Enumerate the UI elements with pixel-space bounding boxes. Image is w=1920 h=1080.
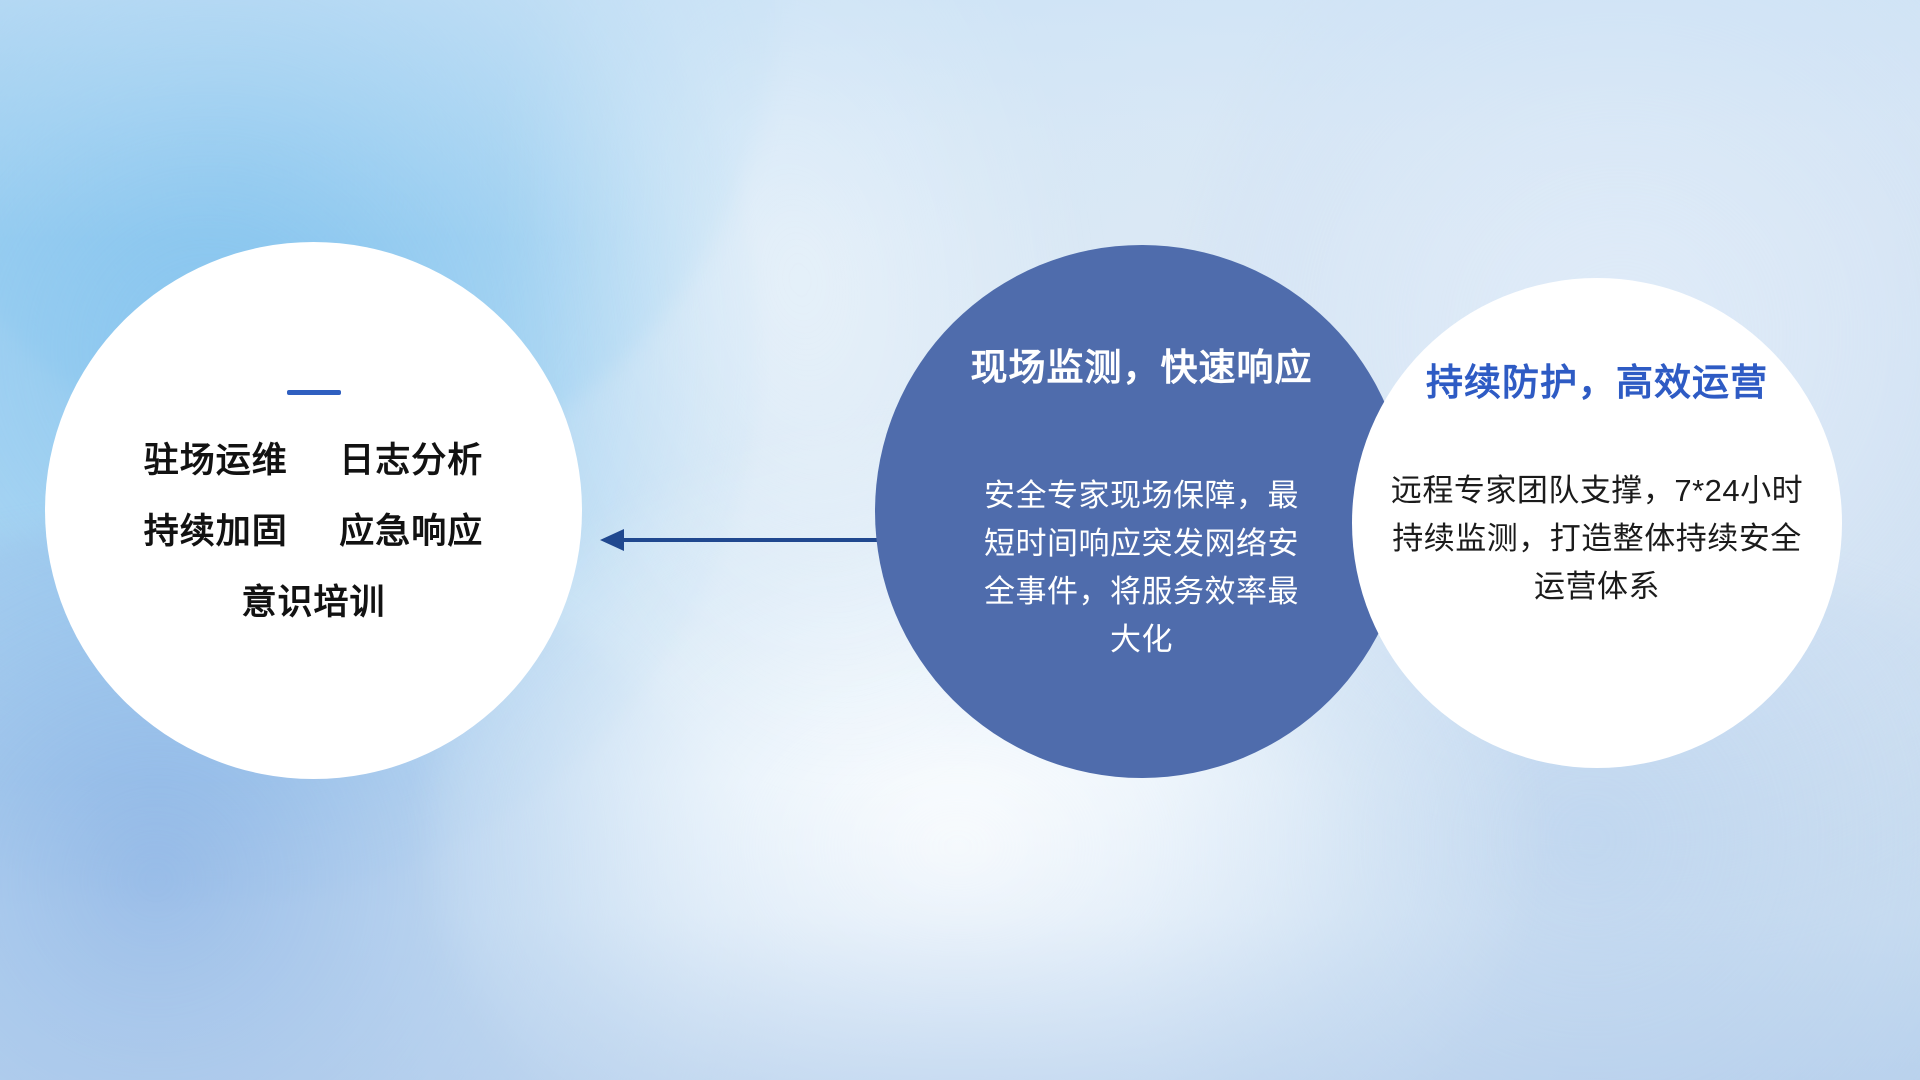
background-top-band <box>0 0 1920 240</box>
capability-label: 持续加固 <box>144 512 288 551</box>
card-title: 现场监测，快速响应 <box>971 349 1313 386</box>
capability-label: 驻场运维 <box>144 441 288 480</box>
horizontal-dash-icon <box>287 390 341 395</box>
card-capabilities: 驻场运维 日志分析 持续加固 应急响应 意识培训 <box>45 242 582 779</box>
capability-list: 驻场运维 日志分析 持续加固 应急响应 意识培训 <box>144 443 484 620</box>
capability-row: 驻场运维 日志分析 <box>144 443 484 478</box>
arrow-left-icon <box>598 512 882 568</box>
capability-row: 持续加固 应急响应 <box>144 514 484 549</box>
slide-canvas: 驻场运维 日志分析 持续加固 应急响应 意识培训 现场监测，快速响应 安全专家现… <box>0 0 1920 1080</box>
card-body: 安全专家现场保障，最短时间响应突发网络安全事件，将服务效率最大化 <box>977 472 1307 664</box>
card-title: 持续防护，高效运营 <box>1426 364 1768 401</box>
capability-row: 意识培训 <box>241 585 385 620</box>
capability-label: 意识培训 <box>241 583 385 622</box>
card-body: 远程专家团队支撑，7*24小时持续监测，打造整体持续安全运营体系 <box>1387 467 1807 611</box>
card-continuous-protection: 持续防护，高效运营 远程专家团队支撑，7*24小时持续监测，打造整体持续安全运营… <box>1352 278 1842 768</box>
capability-label: 应急响应 <box>339 512 483 551</box>
background-bottom-band <box>0 780 1920 1080</box>
card-onsite-monitoring: 现场监测，快速响应 安全专家现场保障，最短时间响应突发网络安全事件，将服务效率最… <box>875 245 1408 778</box>
capability-label: 日志分析 <box>339 441 483 480</box>
